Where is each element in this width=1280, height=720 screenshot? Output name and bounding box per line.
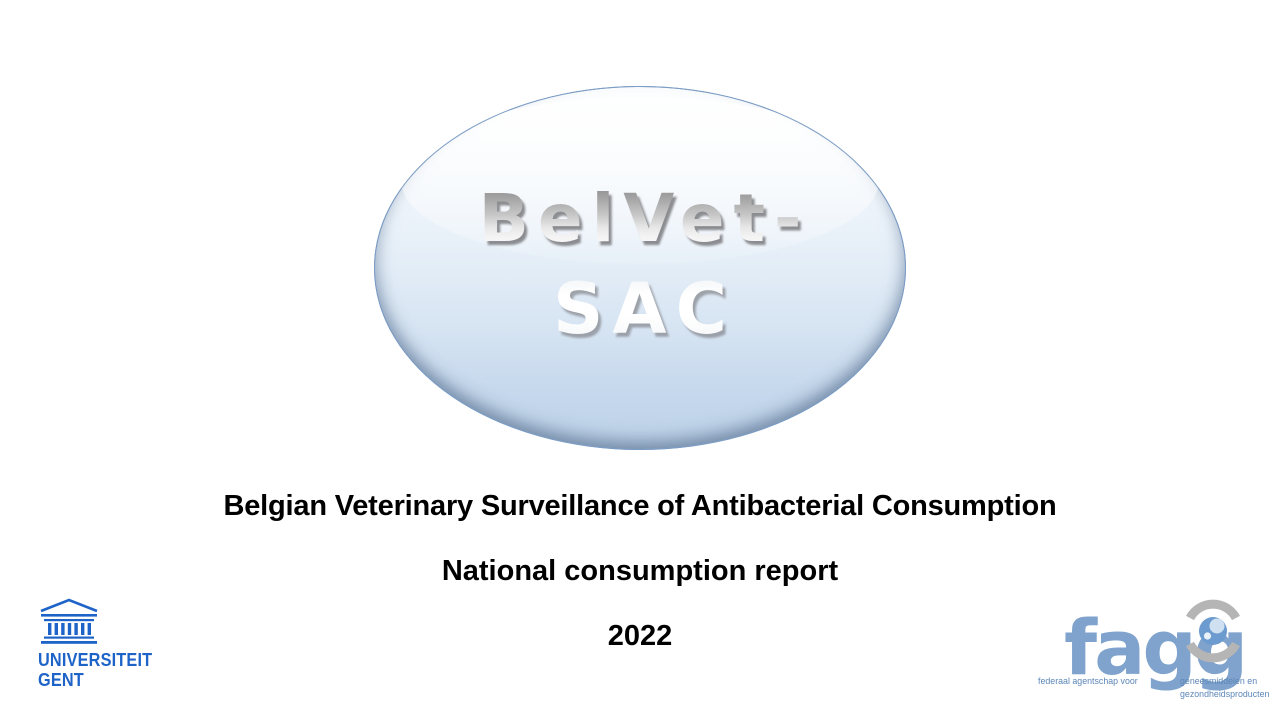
fagg-logo: fagg federaal agentschap voor geneesmidd… [1034,596,1280,706]
page-title: Belgian Veterinary Surveillance of Antib… [0,492,1280,521]
emblem-ellipse-shape [374,86,906,450]
fagg-tagline-right-line2: gezondheidsproducten [1180,689,1269,702]
belvet-sac-logo: BelVet- SAC [374,86,906,450]
ugent-logo-text: UNIVERSITEIT GENT [38,650,170,690]
ugent-logo: UNIVERSITEIT GENT [38,598,188,702]
fagg-tagline-left: federaal agentschap voor [1038,676,1138,687]
classical-temple-icon [38,598,100,646]
fagg-tagline-right-line1: geneesmiddelen en [1180,676,1269,689]
eye-emblem-icon [1182,598,1244,664]
ugent-text-line2: GENT [38,670,170,690]
ugent-text-line1: UNIVERSITEIT [38,650,170,670]
page-subtitle: National consumption report [0,557,1280,586]
fagg-tagline-right: geneesmiddelen en gezondheidsproducten [1180,676,1269,702]
